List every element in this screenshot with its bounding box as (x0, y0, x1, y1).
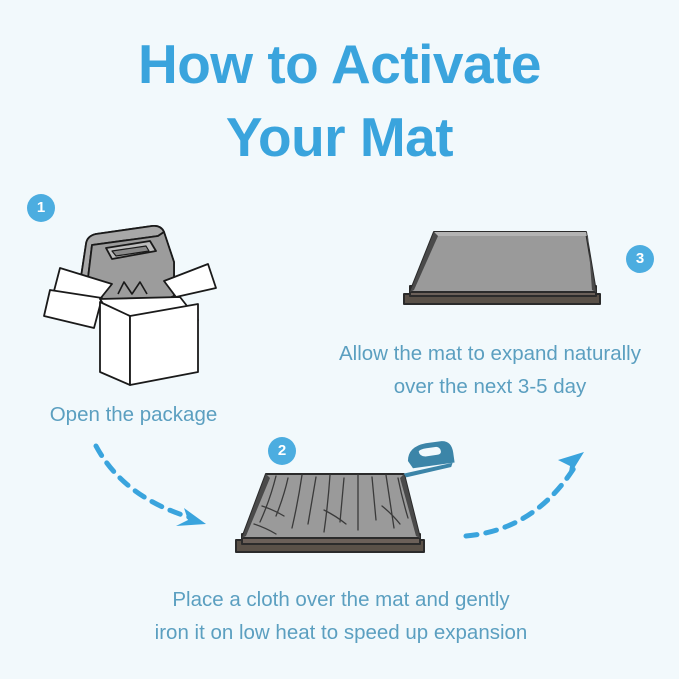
step-3-caption-line-1: Allow the mat to expand naturally (300, 337, 679, 370)
box-body (100, 302, 198, 385)
arrow-step2-to-step3 (462, 444, 602, 544)
iron-icon (398, 436, 460, 484)
step-3-caption-line-2: over the next 3-5 day (300, 370, 679, 403)
step-badge-2: 2 (268, 437, 296, 465)
arrow-step1-to-step2 (88, 442, 228, 542)
step-2-caption-line-2: iron it on low heat to speed up expansio… (106, 616, 576, 649)
flat-mat-illustration (400, 222, 610, 314)
page-title-line-2: Your Mat (0, 101, 679, 174)
open-box-illustration (40, 220, 230, 385)
infographic-canvas: How to Activate Your Mat (0, 0, 679, 679)
step-3-caption: Allow the mat to expand naturally over t… (300, 337, 679, 403)
step-badge-1: 1 (27, 194, 55, 222)
step-2-caption-line-1: Place a cloth over the mat and gently (106, 583, 576, 616)
step-1-caption-line-1: Open the package (0, 398, 267, 431)
step-1-caption: Open the package (0, 398, 267, 431)
step-2-caption: Place a cloth over the mat and gently ir… (106, 583, 576, 649)
page-title-line-1: How to Activate (0, 28, 679, 101)
page-title: How to Activate Your Mat (0, 28, 679, 174)
step-badge-3: 3 (626, 245, 654, 273)
